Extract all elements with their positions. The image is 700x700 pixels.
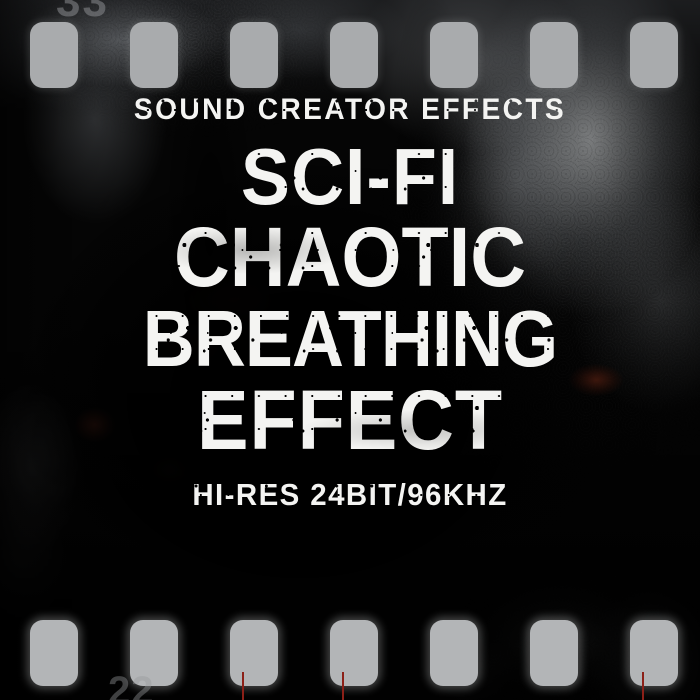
film-frame-number-top: 33: [56, 0, 109, 24]
film-perforation: [630, 620, 678, 686]
film-red-tick-mark: [642, 672, 644, 700]
title-line-3: BREATHING: [35, 302, 665, 376]
title-block: SOUND CREATOR EFFECTS SCI-FI CHAOTIC BRE…: [0, 96, 700, 510]
film-perforation: [230, 620, 278, 686]
film-red-tick-mark: [342, 672, 344, 700]
film-perforation: [430, 620, 478, 686]
film-perforation: [430, 22, 478, 88]
film-perforation: [230, 22, 278, 88]
film-frame-number-bottom: 22: [108, 671, 155, 700]
title-line-2: CHAOTIC: [28, 219, 672, 296]
film-perforation: [130, 620, 178, 686]
film-perforation: [130, 22, 178, 88]
film-red-tick-mark: [242, 672, 244, 700]
film-perforation: [30, 22, 78, 88]
kicker-text: SOUND CREATOR EFFECTS: [21, 96, 679, 124]
film-perforation: [530, 620, 578, 686]
audio-spec-text: HI-RES 24BIT/96KHZ: [18, 481, 683, 510]
title-line-4: EFFECT: [28, 382, 672, 459]
film-perforation: [30, 620, 78, 686]
film-perforation: [530, 22, 578, 88]
film-perforation: [330, 22, 378, 88]
title-line-1: SCI-FI: [28, 140, 672, 214]
film-strip-bottom: 22: [0, 608, 700, 700]
film-strip-top: 33: [0, 0, 700, 92]
film-perforation: [330, 620, 378, 686]
film-perforation: [630, 22, 678, 88]
album-cover-artwork: 33 SOUND CREATOR EFFECTS SCI-FI CHAOTIC …: [0, 0, 700, 700]
